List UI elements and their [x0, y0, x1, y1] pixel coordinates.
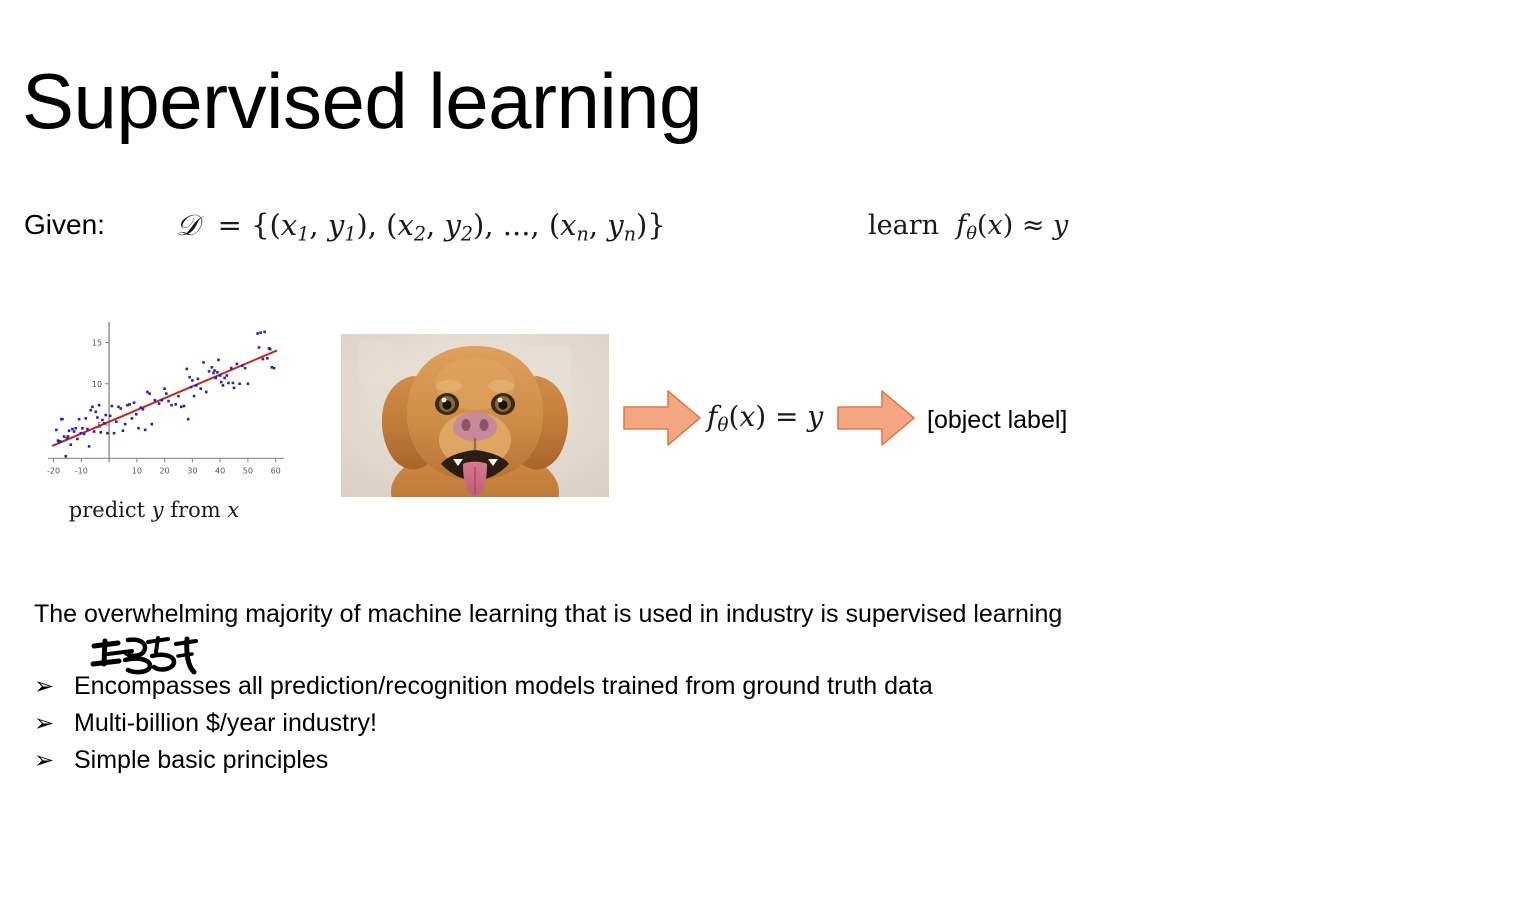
- figure-caption: predict y from x: [18, 498, 290, 522]
- ink-strokes: [88, 634, 206, 678]
- svg-text:50: 50: [243, 466, 253, 475]
- caption-var-y: y: [152, 498, 164, 522]
- caption-var-x: x: [227, 498, 239, 522]
- list-item: ➢ Encompasses all prediction/recognition…: [34, 672, 1234, 709]
- caption-prefix: predict: [69, 498, 145, 522]
- right-arrow-icon: [622, 387, 702, 449]
- svg-text:10: 10: [132, 466, 142, 475]
- svg-text:40: 40: [215, 466, 225, 475]
- svg-text:20: 20: [160, 466, 170, 475]
- dataset-formula: 𝒟 = {(x1, y1), (x2, y2), ..., (xn, yn)}: [176, 208, 666, 245]
- bullet-list: ➢ Encompasses all prediction/recognition…: [34, 672, 1234, 783]
- regression-scatter-figure: -20-1010203040506051015 predict y from x: [18, 312, 290, 534]
- learn-objective-formula: learn fθ(x) ≈ y: [868, 210, 1068, 244]
- svg-text:-20: -20: [47, 466, 60, 475]
- page-title: Supervised learning: [22, 62, 702, 140]
- dog-illustration: [341, 334, 609, 497]
- given-label: Given:: [24, 211, 105, 239]
- list-item-label: Multi-billion $/year industry!: [74, 709, 377, 738]
- list-item: ➢ Simple basic principles: [34, 746, 1234, 783]
- svg-text:60: 60: [271, 466, 281, 475]
- data-points: [55, 331, 275, 458]
- tick-labels: -20-1010203040506051015: [47, 339, 281, 476]
- plot-axes: [48, 322, 284, 462]
- arrowhead-bullet-icon: ➢: [34, 748, 74, 772]
- list-item-label: Simple basic principles: [74, 746, 328, 775]
- handwritten-ink-annotation: [88, 634, 206, 678]
- right-arrow-icon: [836, 387, 916, 449]
- model-formula: fθ(x) = y: [707, 400, 823, 436]
- svg-text:-10: -10: [75, 466, 88, 475]
- input-image-dog-photo: [341, 334, 609, 497]
- svg-text:30: 30: [187, 466, 197, 475]
- learn-keyword: learn: [868, 210, 939, 241]
- svg-text:5: 5: [97, 421, 102, 430]
- svg-text:10: 10: [92, 380, 102, 389]
- output-label: [object label]: [927, 406, 1067, 435]
- lead-paragraph: The overwhelming majority of machine lea…: [34, 600, 1062, 629]
- scatter-plot: -20-1010203040506051015: [18, 312, 290, 494]
- svg-text:15: 15: [92, 339, 102, 348]
- arrowhead-bullet-icon: ➢: [34, 674, 74, 698]
- list-item: ➢ Multi-billion $/year industry!: [34, 709, 1234, 746]
- arrowhead-bullet-icon: ➢: [34, 711, 74, 735]
- caption-mid: from: [170, 498, 220, 522]
